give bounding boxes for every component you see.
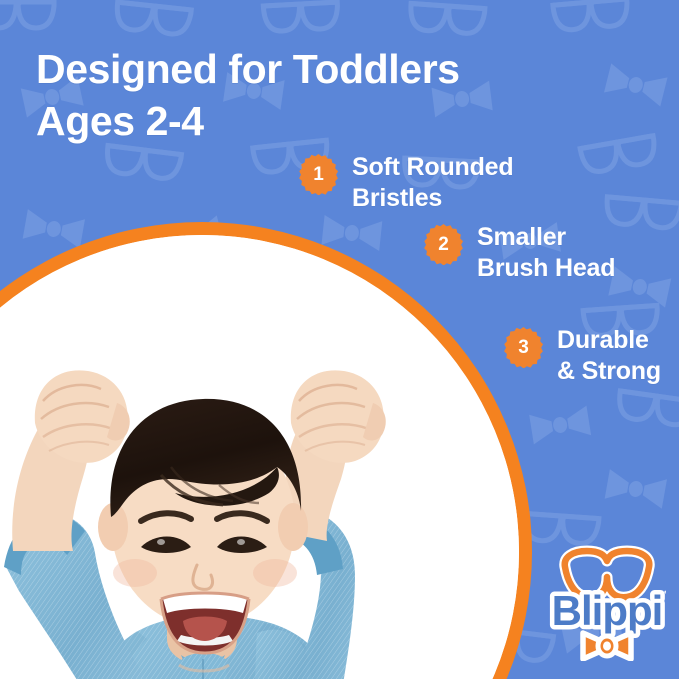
number-badge-1: 1 xyxy=(298,154,339,195)
product-photo-circle xyxy=(0,222,532,679)
number-badge-2: 2 xyxy=(423,224,464,265)
blippi-wordmark: Blippi Blippi xyxy=(552,587,663,634)
bowtie-icon xyxy=(601,463,671,514)
badge-number-label: 2 xyxy=(423,224,464,265)
feature-item-2: 2 Smaller Brush Head xyxy=(423,222,615,283)
glasses-icon xyxy=(573,127,665,185)
badge-number-label: 1 xyxy=(298,154,339,195)
feature-item-1: 1 Soft Rounded Bristles xyxy=(298,152,513,213)
page-title: Designed for Toddlers Ages 2-4 xyxy=(36,44,556,147)
glasses-icon xyxy=(546,0,636,42)
photo-mask xyxy=(0,235,519,679)
feature-label-3: Durable & Strong xyxy=(557,325,661,386)
feature-label-2: Smaller Brush Head xyxy=(477,222,615,283)
bowtie-icon xyxy=(600,57,672,111)
toddler-photo xyxy=(0,235,519,679)
product-infographic: Designed for Toddlers Ages 2-4 xyxy=(0,0,679,679)
glasses-icon xyxy=(0,0,60,38)
svg-text:Blippi: Blippi xyxy=(552,587,663,634)
glasses-icon xyxy=(257,0,345,42)
glasses-icon xyxy=(403,0,492,45)
trademark-symbol: ™ xyxy=(658,589,667,599)
badge-number-label: 3 xyxy=(503,327,544,368)
bowtie-icon xyxy=(525,399,594,449)
number-badge-3: 3 xyxy=(503,327,544,368)
glasses-icon xyxy=(108,0,198,46)
feature-label-1: Soft Rounded Bristles xyxy=(352,152,513,213)
blippi-logo: Blippi Blippi ™ xyxy=(543,541,671,661)
glasses-icon xyxy=(609,382,679,438)
feature-item-3: 3 Durable & Strong xyxy=(503,325,661,386)
bowtie-icon xyxy=(583,633,631,659)
